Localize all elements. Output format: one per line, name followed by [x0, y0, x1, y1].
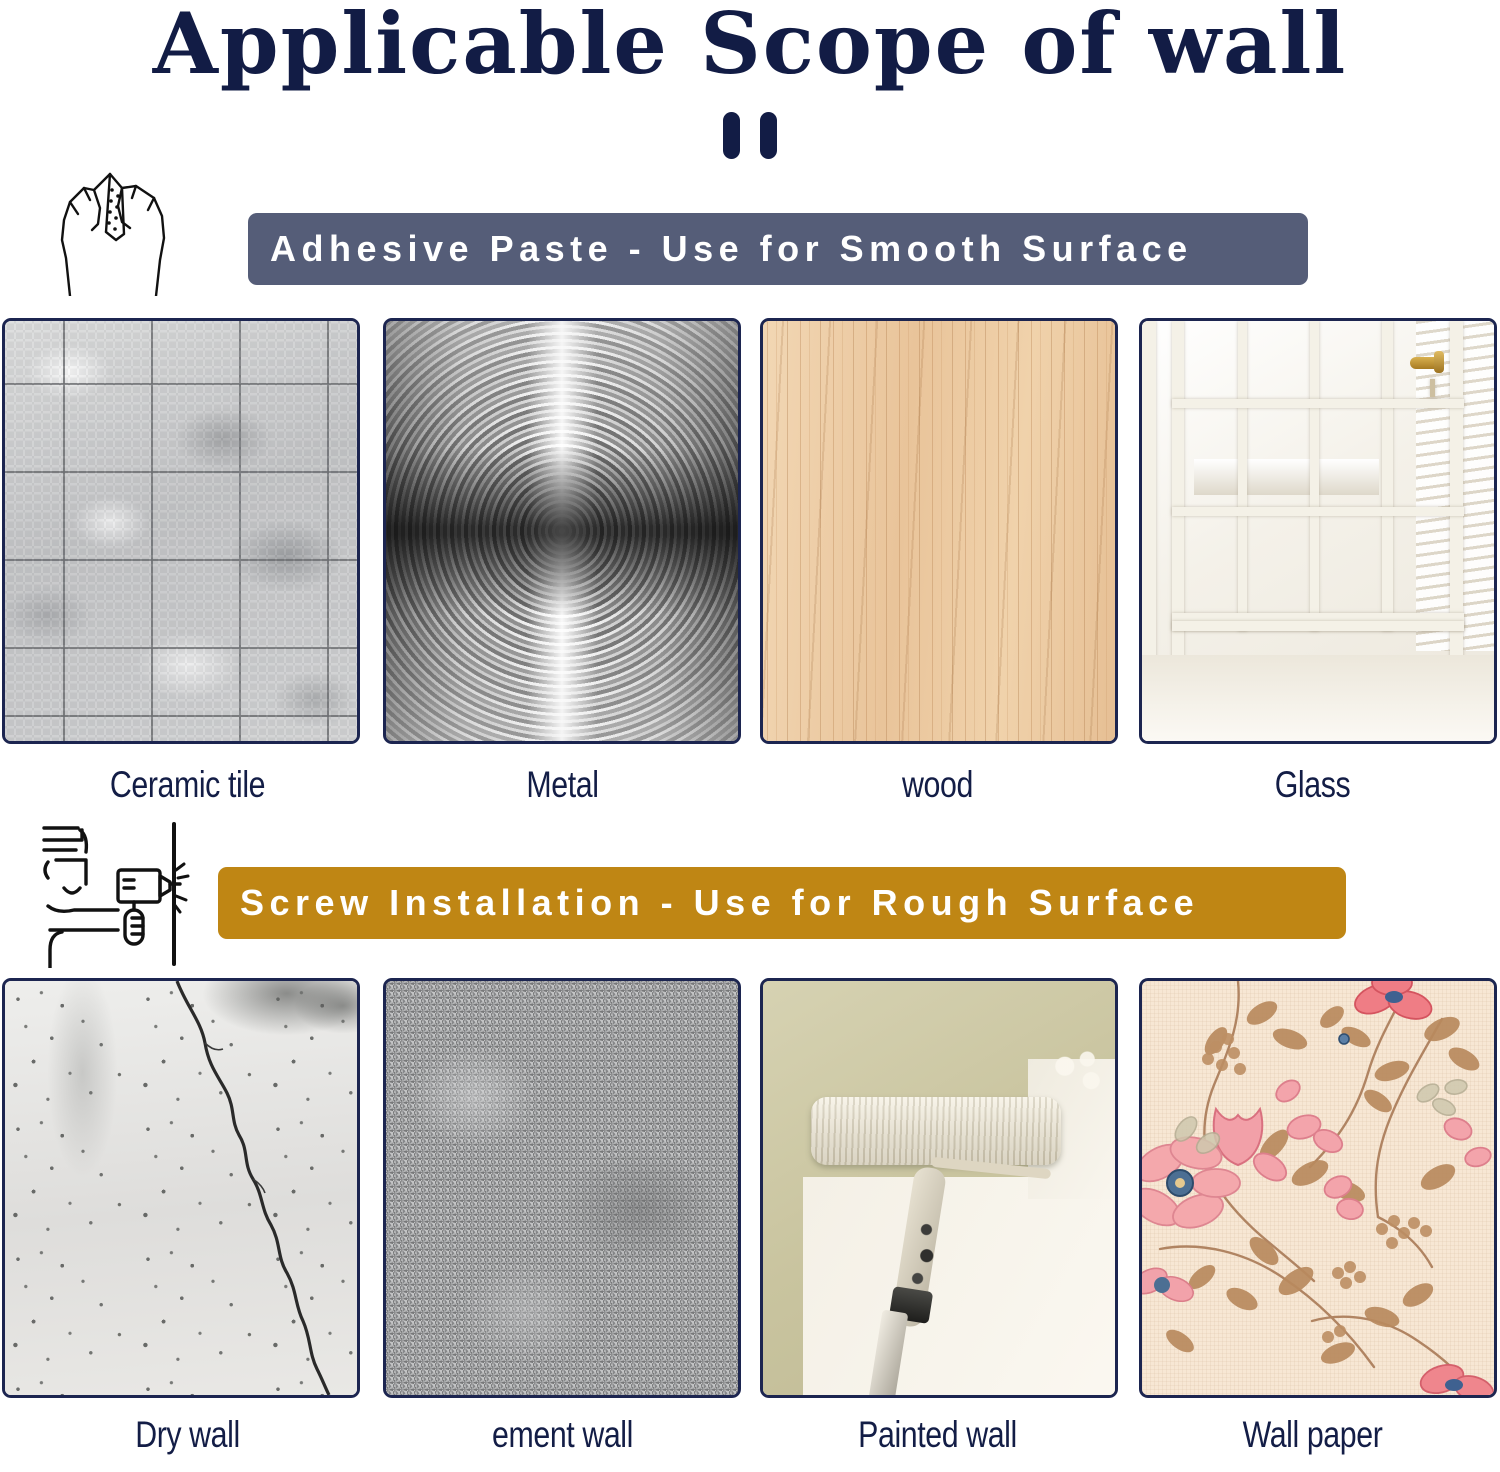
tile-caption: Dry wall	[34, 1414, 342, 1456]
brushed-metal-photo[interactable]	[383, 318, 741, 744]
tile-wall-paper[interactable]: Wall paper	[1125, 978, 1500, 1456]
tile-caption: Metal	[409, 764, 717, 806]
smooth-surface-tile-row: Ceramic tile Metal wood	[0, 318, 1500, 806]
floral-wallpaper-photo[interactable]	[1139, 978, 1497, 1398]
cracked-dry-wall-photo[interactable]	[2, 978, 360, 1398]
wood-grain-photo[interactable]	[760, 318, 1118, 744]
cement-wall-photo[interactable]	[383, 978, 741, 1398]
tile-caption: Ceramic tile	[34, 764, 342, 806]
glass-window-photo[interactable]	[1139, 318, 1497, 744]
tile-glass[interactable]: Glass	[1125, 318, 1500, 806]
tile-caption: Wall paper	[1159, 1414, 1467, 1456]
banner-adhesive-paste: Adhesive Paste - Use for Smooth Surface	[248, 213, 1308, 285]
drill-wall-installation-icon	[22, 818, 202, 968]
tile-ceramic[interactable]: Ceramic tile	[0, 318, 375, 806]
banner-screw-installation: Screw Installation - Use for Rough Surfa…	[218, 867, 1346, 939]
tile-caption: Painted wall	[784, 1414, 1092, 1456]
tile-caption: Glass	[1159, 764, 1467, 806]
page-title: Applicable Scope of wall	[0, 0, 1500, 93]
peeling-adhesive-hands-icon	[44, 168, 184, 296]
ceramic-tile-photo[interactable]	[2, 318, 360, 744]
tile-caption: ement wall	[409, 1414, 717, 1456]
infographic-page: Applicable Scope of wall Adhesive Paste …	[0, 0, 1500, 1472]
tile-painted-wall[interactable]: Painted wall	[750, 978, 1125, 1456]
tile-metal[interactable]: Metal	[375, 318, 750, 806]
tile-cement-wall[interactable]: ement wall	[375, 978, 750, 1456]
paint-roller-wall-photo[interactable]	[760, 978, 1118, 1398]
rough-surface-tile-row: Dry wall ement wall	[0, 978, 1500, 1456]
tile-wood[interactable]: wood	[750, 318, 1125, 806]
pause-bars-divider-icon	[723, 112, 777, 159]
tile-caption: wood	[784, 764, 1092, 806]
tile-dry-wall[interactable]: Dry wall	[0, 978, 375, 1456]
